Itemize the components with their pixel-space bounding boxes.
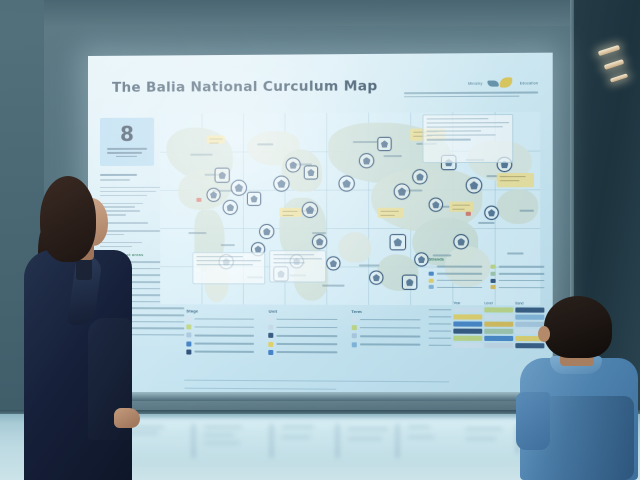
list-item[interactable] [186,316,254,321]
map-topic-badge[interactable] [215,168,230,183]
brand-logo-icon [488,77,515,88]
strand-swatch-icon [491,278,496,282]
strand-legend-item[interactable] [491,265,545,269]
map-topic-badge[interactable] [223,200,238,215]
column-header: Unit [269,309,338,314]
matrix-cell[interactable] [484,307,513,312]
student-person [520,296,640,480]
list-item-label [277,327,337,329]
strand-label [437,266,482,268]
strand-label [499,266,545,268]
screen-bottom-edge [84,392,555,401]
curriculum-poster: The Balia National Curculum Map Ministry… [88,53,553,400]
strand-swatch-icon [429,278,434,282]
map-label [519,210,534,212]
map-label [478,222,495,224]
list-item[interactable] [186,333,254,338]
matrix-cell[interactable] [453,343,482,348]
map-callout[interactable] [207,135,225,143]
map-label [257,143,273,145]
matrix-cell[interactable] [484,343,513,348]
map-label [359,264,379,266]
list-item-label [277,335,337,337]
strand-legend-item[interactable] [491,272,545,276]
strand-label [437,280,482,282]
map-topic-badge[interactable] [326,256,340,270]
student-sleeve [516,392,550,450]
presenter-person [18,176,130,480]
map-topic-badge[interactable] [429,198,443,212]
list-item-label [360,344,421,346]
strand-swatch-icon [491,272,496,276]
list-item-icon [186,316,191,321]
brand-subtitle-lines [404,91,538,100]
map-topic-badge[interactable] [377,137,391,151]
strand-swatch-icon [429,285,434,289]
matrix-row-label [429,316,452,318]
brand-right-label: Education [520,81,538,85]
map-topic-badge[interactable] [247,192,261,206]
map-label [188,232,206,234]
matrix-cell[interactable] [453,329,482,334]
list-item-label [194,351,254,353]
strand-label [437,286,482,288]
map-topic-badge[interactable] [273,176,289,192]
list-item[interactable] [269,350,338,355]
list-item-label [360,319,421,321]
map-topic-badge[interactable] [359,153,374,168]
map-callout[interactable] [449,202,474,212]
list-item-label [360,327,421,329]
list-item[interactable] [186,349,254,354]
map-label [190,154,212,156]
strand-swatch-icon [429,265,434,269]
map-topic-badge[interactable] [390,234,406,250]
map-topic-badge[interactable] [369,271,383,285]
map-topic-badge[interactable] [402,275,417,290]
presenter-hand [114,408,140,428]
matrix-cell[interactable] [484,336,513,341]
matrix-row-label [429,309,452,311]
column-header: Stage [186,308,254,313]
footer-divider [184,379,449,382]
matrix-row-label [429,337,452,339]
list-item-label [277,343,337,345]
stat-caption [107,148,147,159]
matrix-cell[interactable] [484,314,513,319]
list-item-icon [186,333,191,338]
map-topic-badge[interactable] [484,206,498,220]
map-topic-badge[interactable] [453,234,468,249]
column-header: Term [351,309,420,314]
stat-number: 8 [120,124,134,144]
list-item-label [194,326,254,328]
strand-label [499,287,545,289]
map-callout[interactable] [279,208,301,217]
stat-card: 8 [100,118,154,166]
strand-legend-item[interactable] [429,278,483,282]
list-item-label [277,351,337,353]
matrix-column-header: Level [484,301,513,305]
map-callout[interactable] [377,208,404,218]
map-callout[interactable] [497,173,534,187]
map-topic-badge[interactable] [231,180,247,196]
ceiling [0,0,640,26]
list-item[interactable] [269,317,338,322]
matrix-cell[interactable] [453,321,482,326]
presenter-hair [40,176,96,262]
projection-screen[interactable]: The Balia National Curculum Map Ministry… [88,53,553,400]
map-label [507,252,524,254]
list-item-icon [269,341,274,346]
map-topic-badge[interactable] [412,169,427,184]
bottom-column-lists: StageUnitTerm [186,308,420,358]
map-region[interactable] [497,189,538,224]
list-item[interactable] [351,334,420,339]
strand-legend-item[interactable] [429,265,483,269]
map-note-card [269,250,326,282]
strand-label [499,273,545,275]
footer-note [184,387,336,390]
strand-legend-title: Strands [429,256,545,261]
list-item[interactable] [269,341,338,346]
strand-legend-right-column [491,265,545,293]
list-item-label [194,343,254,345]
list-item[interactable] [351,325,420,330]
strand-legend: Strands [429,256,545,292]
map-topic-badge[interactable] [394,183,410,199]
list-item-icon [269,325,274,330]
strand-swatch-icon [429,271,434,275]
list-item-icon [269,350,274,355]
map-topic-badge[interactable] [312,234,327,249]
list-item-icon [186,325,191,330]
map-topic-badge[interactable] [207,188,221,202]
list-item-icon [351,334,356,339]
map-topic-badge[interactable] [304,165,318,179]
matrix-row-label [429,344,452,346]
list-item[interactable] [186,325,254,330]
map-marker-icon[interactable] [196,198,201,202]
student-hair [544,296,612,358]
list-item-label [360,335,421,337]
list-item-icon [186,349,191,354]
strand-legend-item[interactable] [491,278,545,282]
list-item-icon [269,317,274,322]
map-topic-badge[interactable] [286,157,301,172]
map-note-card [192,252,265,284]
matrix-row-label [429,323,452,325]
map-topic-badge[interactable] [466,177,483,193]
strand-label [499,280,545,282]
list-item-icon [186,341,191,346]
map-topic-badge[interactable] [414,252,428,266]
strand-label [437,273,482,275]
map-label [353,141,378,143]
list-item-label [194,318,254,320]
matrix-column-header: Year [453,301,482,305]
list-item-icon [269,333,274,338]
list-item-icon [351,342,356,347]
brand-left-label: Ministry [468,81,482,85]
matrix-cell[interactable] [453,336,482,341]
map-label [221,244,235,246]
map-marker-icon[interactable] [466,212,471,216]
list-item[interactable] [351,317,420,322]
list-item-label [194,335,254,337]
strand-legend-item[interactable] [429,285,483,289]
strand-swatch-icon [491,285,496,289]
list-item[interactable] [269,333,338,338]
column-list: Term [351,309,420,359]
strand-legend-left-column [429,265,483,293]
classroom-scene: The Balia National Curculum Map Ministry… [0,0,640,480]
side-note-card [422,114,513,163]
column-list: Unit [269,309,338,359]
list-item-label [277,318,337,320]
list-item[interactable] [269,325,338,330]
map-label [383,155,401,157]
list-item[interactable] [351,342,420,347]
column-list: Stage [186,308,254,358]
student-ear [538,326,550,342]
map-topic-badge[interactable] [302,202,318,218]
map-topic-badge[interactable] [338,175,354,191]
map-region[interactable] [338,232,371,262]
list-item-icon [351,317,356,322]
strand-legend-item[interactable] [491,285,545,289]
list-item[interactable] [186,341,254,346]
matrix-cell[interactable] [453,307,482,312]
map-label [322,285,344,287]
strand-swatch-icon [491,265,496,269]
map-topic-badge[interactable] [259,224,274,239]
floor-reflection [96,418,546,462]
matrix-row-label [429,330,452,332]
matrix-cell[interactable] [484,322,513,327]
brand-lockup: Ministry Education [468,77,538,89]
strand-legend-item[interactable] [429,271,483,275]
matrix-cell[interactable] [453,314,482,319]
list-item-icon [351,325,356,330]
matrix-cell[interactable] [484,329,513,334]
